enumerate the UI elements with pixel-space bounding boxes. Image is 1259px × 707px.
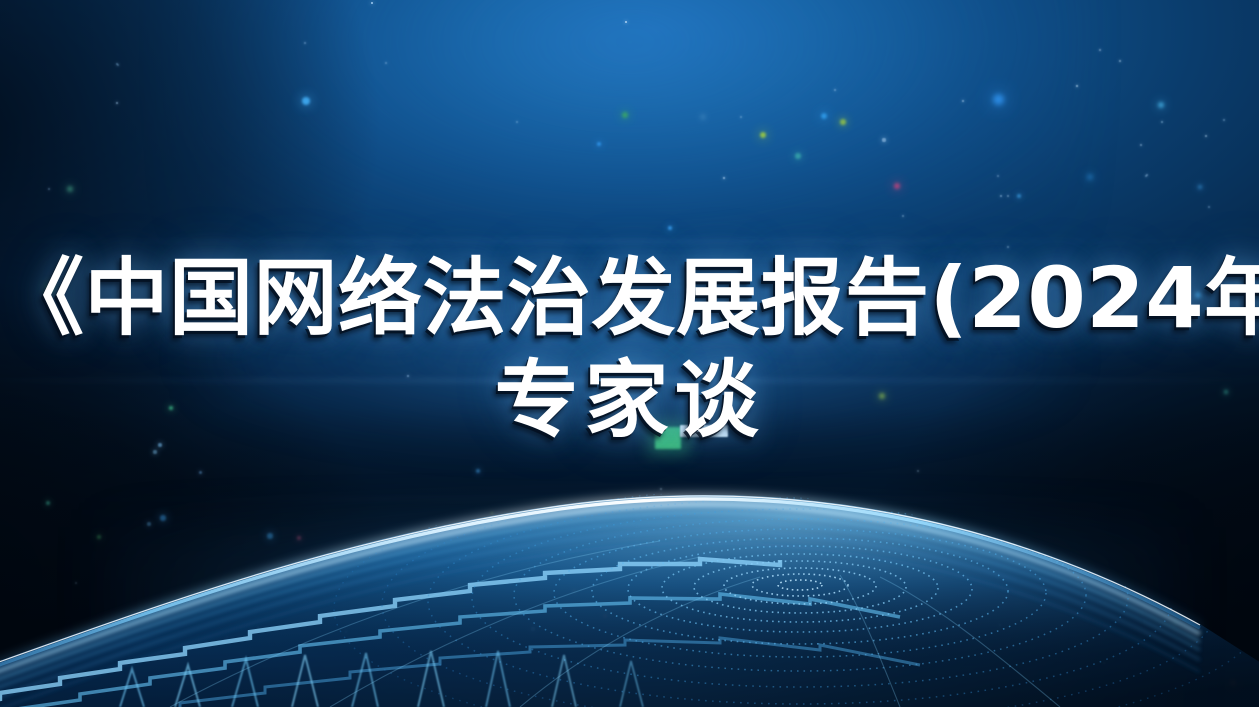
- background-particle: [117, 64, 119, 66]
- background-particle: [760, 132, 767, 139]
- background-particle: [304, 42, 306, 44]
- background-particle: [1076, 85, 1078, 87]
- background-particle: [1017, 194, 1021, 198]
- background-particle: [1140, 144, 1142, 146]
- background-particle: [371, 2, 374, 5]
- background-particle: [962, 100, 964, 102]
- background-particle: [1099, 49, 1101, 51]
- background-particle: [1223, 119, 1225, 121]
- background-particle: [795, 153, 800, 158]
- background-particle: [1007, 195, 1009, 197]
- background-particle: [840, 119, 845, 124]
- background-particle: [622, 112, 628, 118]
- background-particle: [834, 89, 836, 91]
- background-particle: [1208, 206, 1210, 208]
- digital-globe: [0, 407, 1259, 707]
- background-particle: [1000, 195, 1002, 197]
- background-particle: [1205, 135, 1207, 137]
- background-particle: [302, 97, 309, 104]
- background-particle: [723, 177, 725, 179]
- background-particle: [1146, 174, 1148, 176]
- background-particle: [894, 183, 901, 190]
- background-particle: [516, 121, 518, 123]
- background-particle: [116, 63, 118, 65]
- background-particle: [902, 215, 904, 217]
- background-particle: [740, 116, 742, 118]
- background-particle: [997, 175, 999, 177]
- globe-wireframe-svg: [0, 407, 1259, 707]
- background-particle: [1158, 102, 1164, 108]
- background-particle: [1161, 121, 1163, 123]
- background-particle: [701, 115, 706, 120]
- background-particle: [67, 186, 73, 192]
- headline-line-2: 专家谈: [0, 350, 1259, 450]
- background-particle: [821, 113, 828, 120]
- background-particle: [625, 21, 627, 23]
- background-particle: [993, 94, 1004, 105]
- background-particle: [1087, 174, 1093, 180]
- background-particle: [597, 142, 602, 147]
- headline-line-1: 《中国网络法治发展报告(2024年)》: [0, 246, 1259, 350]
- background-particle: [1198, 185, 1202, 189]
- background-particle: [882, 138, 885, 141]
- title-block: 《中国网络法治发展报告(2024年)》 专家谈: [0, 246, 1259, 450]
- background-particle: [385, 62, 387, 64]
- background-particle: [116, 102, 118, 104]
- background-particle: [668, 226, 672, 230]
- background-particle: [48, 188, 50, 190]
- slide-canvas: 《中国网络法治发展报告(2024年)》 专家谈: [0, 0, 1259, 707]
- background-particle: [1119, 60, 1121, 62]
- background-particle: [1145, 175, 1147, 177]
